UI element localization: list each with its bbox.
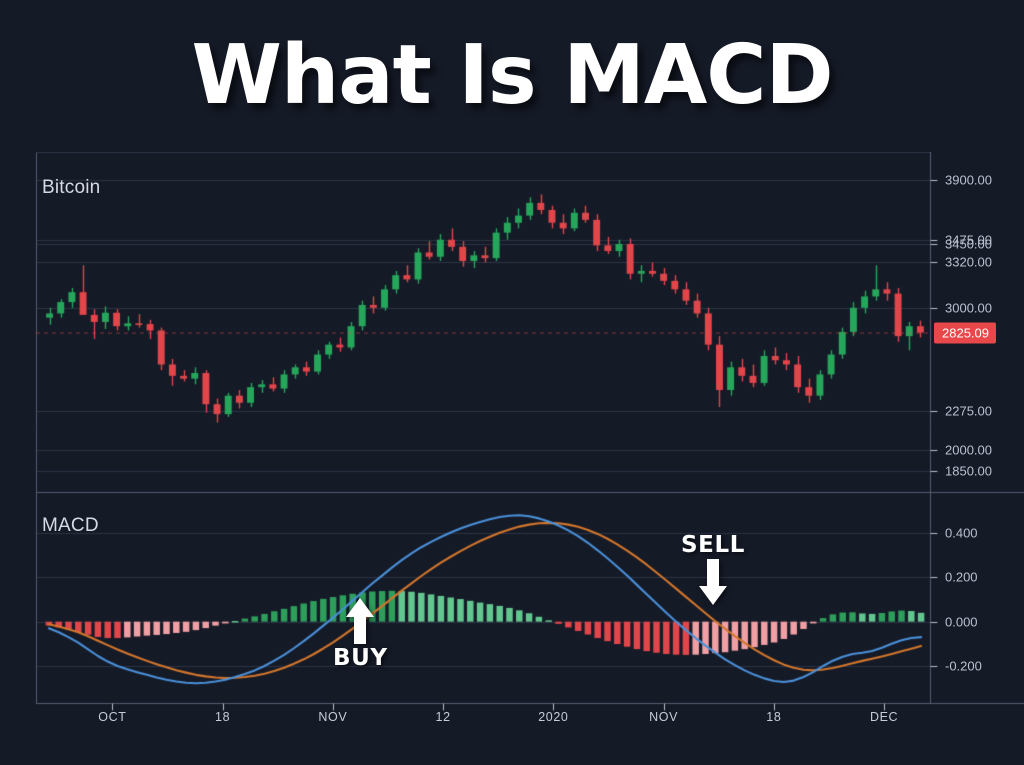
- macd-axis-tick-3: -0.200: [945, 658, 982, 673]
- time-axis-tick-4: 2020: [538, 710, 568, 724]
- buy-annotation-label: BUY: [333, 645, 388, 671]
- price-axis-tick-5: 2275.00: [945, 403, 992, 418]
- arrow-up-icon: [345, 598, 375, 644]
- macd-axis-tick-0: 0.400: [945, 526, 978, 541]
- chart-widget[interactable]: Bitcoin MACD 3900.003475.003450.003320.0…: [0, 152, 1024, 765]
- buy-annotation: BUY: [333, 598, 388, 671]
- price-pane-label: Bitcoin: [42, 177, 100, 199]
- arrow-down-icon: [698, 559, 728, 605]
- title-bar: What Is MACD: [0, 0, 1024, 152]
- macd-axis-tick-2: 0.000: [945, 614, 978, 629]
- time-axis-tick-5: NOV: [649, 710, 678, 724]
- time-axis-tick-2: NOV: [318, 710, 347, 724]
- price-axis-tick-7: 1850.00: [945, 463, 992, 478]
- sell-annotation: SELL: [681, 532, 745, 605]
- price-axis-tick-0: 3900.00: [945, 173, 992, 188]
- time-axis-tick-7: DEC: [870, 710, 898, 724]
- price-axis-tick-6: 2000.00: [945, 442, 992, 457]
- time-axis-tick-1: 18: [215, 710, 230, 724]
- time-axis-tick-3: 12: [436, 710, 451, 724]
- trading-chart-canvas[interactable]: [0, 152, 1024, 765]
- time-axis-tick-6: 18: [766, 710, 781, 724]
- price-axis-tick-4: 3000.00: [945, 300, 992, 315]
- page-title: What Is MACD: [191, 35, 832, 117]
- last-price-tag: 2825.09: [934, 322, 996, 343]
- screenshot-root: What Is MACD Bitcoin MACD 3900.003475.00…: [0, 0, 1024, 765]
- price-axis-tick-3: 3320.00: [945, 255, 992, 270]
- time-axis-tick-0: OCT: [98, 710, 126, 724]
- price-axis-tick-2: 3450.00: [945, 236, 992, 251]
- macd-pane-label: MACD: [42, 515, 99, 537]
- macd-axis-tick-1: 0.200: [945, 570, 978, 585]
- sell-annotation-label: SELL: [681, 532, 745, 558]
